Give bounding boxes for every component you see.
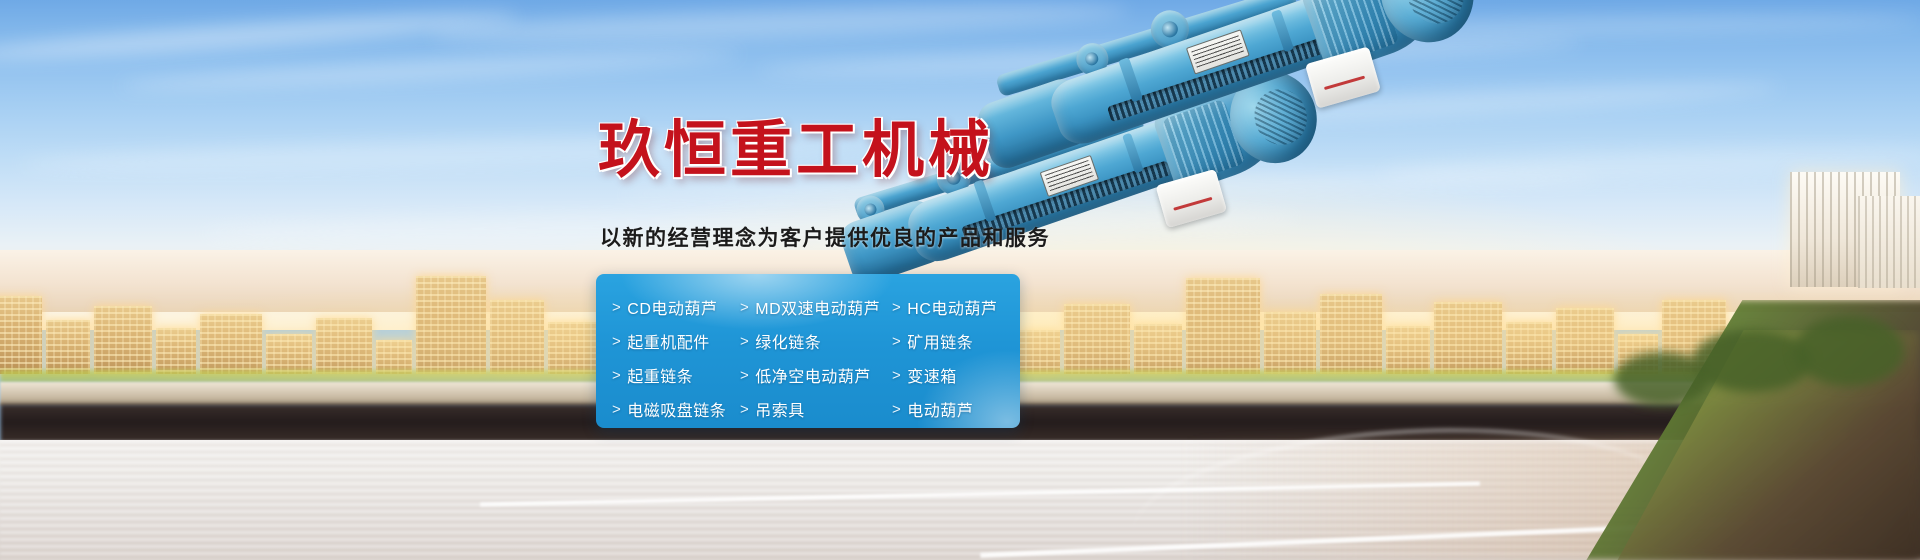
product-link[interactable]: >起重机配件 <box>612 329 740 353</box>
chevron-right-icon: > <box>740 368 749 383</box>
city-building <box>548 322 596 374</box>
product-link-label: 起重机配件 <box>627 329 710 353</box>
chevron-right-icon: > <box>612 402 621 417</box>
product-links-panel: >CD电动葫芦>MD双速电动葫芦>HC电动葫芦>起重机配件>绿化链条>矿用链条>… <box>596 274 1020 428</box>
product-link[interactable]: >绿化链条 <box>740 329 892 353</box>
city-building <box>1506 322 1552 374</box>
city-building <box>46 320 90 374</box>
city-building <box>200 314 262 374</box>
chevron-right-icon: > <box>892 368 901 383</box>
page-subtitle: 以新的经营理念为客户提供优良的产品和服务 <box>600 222 1050 252</box>
product-link-label: MD双速电动葫芦 <box>755 295 880 319</box>
product-link-label: HC电动葫芦 <box>907 295 997 319</box>
product-link[interactable]: >电磁吸盘链条 <box>612 397 740 421</box>
chevron-right-icon: > <box>740 402 749 417</box>
product-link-label: 矿用链条 <box>907 329 973 353</box>
city-building <box>1320 294 1382 374</box>
roadside-tree <box>1794 316 1904 386</box>
product-link[interactable]: >矿用链条 <box>892 329 1020 353</box>
product-link[interactable]: >HC电动葫芦 <box>892 295 1020 319</box>
product-link-label: 电动葫芦 <box>907 397 973 421</box>
product-link-label: 低净空电动葫芦 <box>755 363 871 387</box>
product-link[interactable]: >变速箱 <box>892 363 1020 387</box>
product-link[interactable]: >吊索具 <box>740 397 892 421</box>
product-link-label: 变速箱 <box>907 363 957 387</box>
city-building <box>376 340 412 374</box>
city-building <box>266 334 312 374</box>
city-building <box>490 300 544 374</box>
product-link[interactable]: >CD电动葫芦 <box>612 295 740 319</box>
city-building <box>1434 302 1502 374</box>
product-link-label: 绿化链条 <box>755 329 821 353</box>
chevron-right-icon: > <box>740 300 749 315</box>
chevron-right-icon: > <box>612 368 621 383</box>
chevron-right-icon: > <box>612 334 621 349</box>
city-building <box>316 318 372 374</box>
product-link-label: 电磁吸盘链条 <box>627 397 726 421</box>
product-link-label: CD电动葫芦 <box>627 295 717 319</box>
chevron-right-icon: > <box>892 300 901 315</box>
city-building <box>1556 308 1614 374</box>
hero-banner: 玖恒重工机械 以新的经营理念为客户提供优良的产品和服务 >CD电动葫芦>MD双速… <box>0 0 1920 560</box>
city-building <box>1386 326 1430 374</box>
product-link[interactable]: >电动葫芦 <box>892 397 1020 421</box>
product-link[interactable]: >低净空电动葫芦 <box>740 363 892 387</box>
product-links-grid: >CD电动葫芦>MD双速电动葫芦>HC电动葫芦>起重机配件>绿化链条>矿用链条>… <box>612 290 1020 426</box>
chevron-right-icon: > <box>892 334 901 349</box>
product-link-label: 吊索具 <box>755 397 805 421</box>
chevron-right-icon: > <box>740 334 749 349</box>
product-link[interactable]: >起重链条 <box>612 363 740 387</box>
chevron-right-icon: > <box>892 402 901 417</box>
foreground-tower-secondary <box>1858 196 1920 288</box>
product-link-label: 起重链条 <box>627 363 693 387</box>
city-building <box>0 296 42 374</box>
product-link[interactable]: >MD双速电动葫芦 <box>740 295 892 319</box>
city-building <box>1264 312 1316 374</box>
page-title: 玖恒重工机械 <box>598 120 994 182</box>
city-building <box>94 306 152 374</box>
chevron-right-icon: > <box>612 300 621 315</box>
roadside-tree <box>1692 330 1812 392</box>
city-building <box>156 328 196 374</box>
city-building <box>416 276 486 374</box>
